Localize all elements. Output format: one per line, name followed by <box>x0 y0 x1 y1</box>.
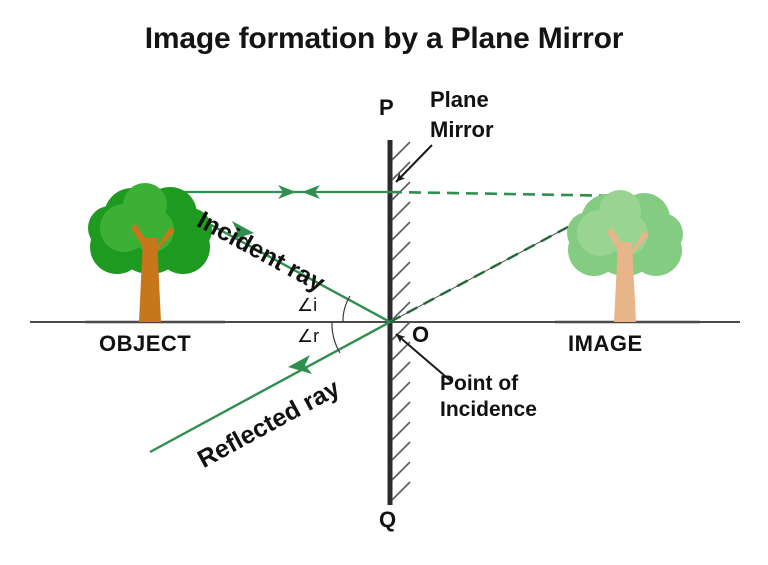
diagram-canvas: Image formation by a Plane Mirror <box>0 0 768 565</box>
point-of-incidence-label-line2: Incidence <box>440 398 537 422</box>
object-label: OBJECT <box>99 332 191 357</box>
angle-of-reflection-label: ∠r <box>297 326 319 346</box>
mirror-top-label: P <box>379 96 394 121</box>
plane-mirror-label-line1: Plane <box>430 88 489 113</box>
angle-of-incidence-label: ∠i <box>297 295 317 315</box>
mirror-bottom-label: Q <box>379 508 396 533</box>
plane-mirror-label-line2: Mirror <box>430 118 494 143</box>
image-tree <box>567 190 683 322</box>
object-tree <box>88 183 212 322</box>
origin-label: O <box>412 323 429 348</box>
angle-reflection-arc <box>332 322 340 353</box>
image-label: IMAGE <box>568 332 643 357</box>
diagram-svg <box>0 0 768 565</box>
virtual-ray-horizontal <box>390 192 626 196</box>
point-of-incidence-label-line1: Point of <box>440 372 518 396</box>
